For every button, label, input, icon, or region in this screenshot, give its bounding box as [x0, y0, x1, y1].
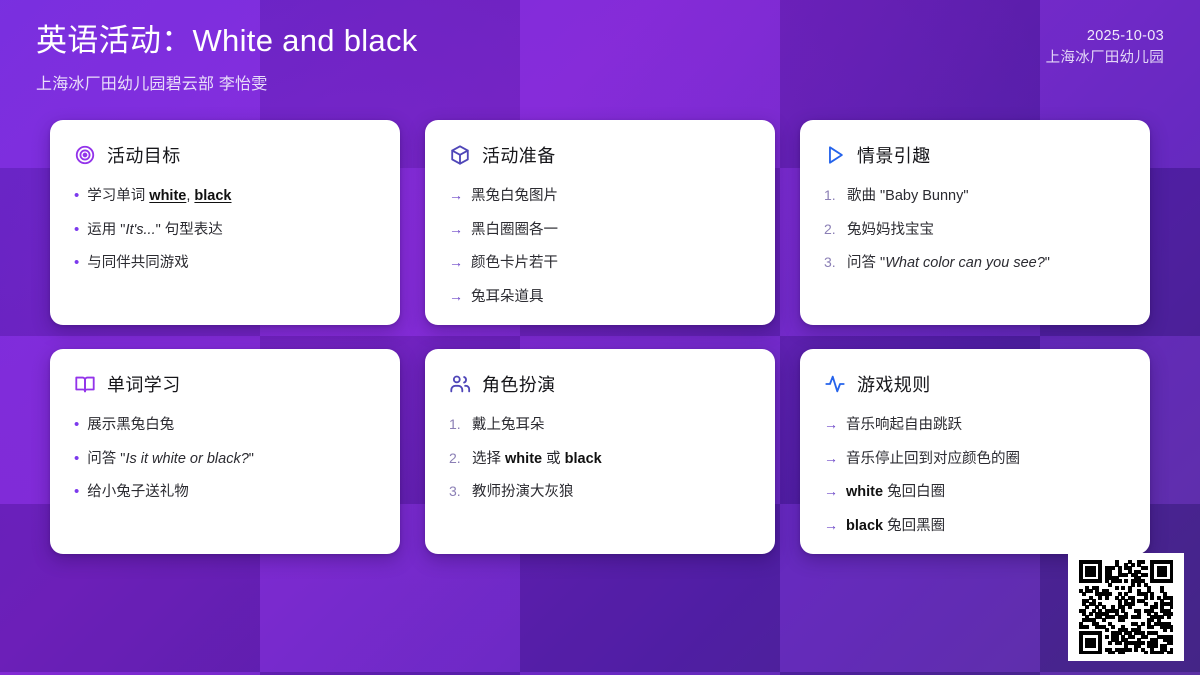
list-marker: → [449, 287, 463, 307]
list-item: •与同伴共同游戏 [74, 253, 376, 274]
activity-pulse-icon [824, 373, 846, 395]
card-title: 单词学习 [107, 371, 181, 397]
list-item-text: 给小兔子送礼物 [87, 482, 189, 503]
list-item-text: 选择 white 或 black [472, 449, 602, 470]
card-list: 1.戴上兔耳朵2.选择 white 或 black3.教师扮演大灰狼 [449, 415, 751, 503]
box-icon [449, 144, 471, 166]
list-marker: → [449, 220, 463, 240]
header-date: 2025-10-03 [1087, 26, 1164, 48]
list-marker: → [449, 186, 463, 206]
card-list: →黑兔白兔图片→黑白圈圈各一→颜色卡片若干→兔耳朵道具 [449, 186, 751, 307]
list-item: 3.教师扮演大灰狼 [449, 482, 751, 503]
list-item-text: 音乐响起自由跳跃 [846, 415, 962, 436]
list-item-text: 运用 "It's..." 句型表达 [87, 220, 223, 241]
list-item-text: 兔耳朵道具 [471, 287, 544, 308]
card-情景引趣: 情景引趣1.歌曲 "Baby Bunny"2.兔妈妈找宝宝3.问答 "What … [800, 120, 1150, 325]
list-item-text: 学习单词 white, black [87, 186, 231, 207]
list-item: →黑白圈圈各一 [449, 220, 751, 241]
list-marker: → [824, 516, 838, 536]
list-marker: 3. [449, 482, 464, 502]
list-marker: → [824, 449, 838, 469]
list-item-text: 问答 "What color can you see?" [847, 253, 1050, 274]
card-活动准备: 活动准备→黑兔白兔图片→黑白圈圈各一→颜色卡片若干→兔耳朵道具 [425, 120, 775, 325]
card-title: 游戏规则 [857, 371, 931, 397]
card-list: •学习单词 white, black•运用 "It's..." 句型表达•与同伴… [74, 186, 376, 274]
list-item-text: 教师扮演大灰狼 [472, 482, 574, 503]
list-marker: → [449, 253, 463, 273]
list-item-text: 展示黑兔白兔 [87, 415, 174, 436]
open-book-icon [74, 373, 96, 395]
list-item: →颜色卡片若干 [449, 253, 751, 274]
list-item-text: 音乐停止回到对应颜色的圈 [846, 449, 1020, 470]
header-organization: 上海冰厂田幼儿园 [1046, 48, 1164, 70]
list-marker: 2. [449, 449, 464, 469]
list-item-text: 与同伴共同游戏 [87, 253, 189, 274]
play-triangle-icon [824, 144, 846, 166]
list-item: •给小兔子送礼物 [74, 482, 376, 503]
card-header: 单词学习 [74, 371, 376, 397]
qr-code-image [1079, 560, 1173, 654]
list-marker: 1. [449, 415, 464, 435]
card-角色扮演: 角色扮演1.戴上兔耳朵2.选择 white 或 black3.教师扮演大灰狼 [425, 349, 775, 554]
card-title: 活动准备 [482, 142, 556, 168]
list-item: 2.选择 white 或 black [449, 449, 751, 470]
list-marker: • [74, 484, 79, 499]
list-item: →音乐响起自由跳跃 [824, 415, 1126, 436]
list-item: •学习单词 white, black [74, 186, 376, 207]
card-header: 角色扮演 [449, 371, 751, 397]
qr-code[interactable] [1068, 553, 1184, 661]
list-item-text: 黑白圈圈各一 [471, 220, 558, 241]
list-marker: • [74, 417, 79, 432]
list-item: →音乐停止回到对应颜色的圈 [824, 449, 1126, 470]
card-单词学习: 单词学习•展示黑兔白兔•问答 "Is it white or black?"•给… [50, 349, 400, 554]
list-item-text: 问答 "Is it white or black?" [87, 449, 254, 470]
card-grid: 活动目标•学习单词 white, black•运用 "It's..." 句型表达… [50, 120, 1150, 554]
list-item: •运用 "It's..." 句型表达 [74, 220, 376, 241]
card-list: 1.歌曲 "Baby Bunny"2.兔妈妈找宝宝3.问答 "What colo… [824, 186, 1126, 274]
target-icon [74, 144, 96, 166]
card-list: →音乐响起自由跳跃→音乐停止回到对应颜色的圈→white 兔回白圈→black … [824, 415, 1126, 536]
list-marker: 3. [824, 253, 839, 273]
list-marker: • [74, 255, 79, 270]
list-item-text: 歌曲 "Baby Bunny" [847, 186, 969, 207]
card-title: 情景引趣 [857, 142, 931, 168]
list-item: →black 兔回黑圈 [824, 516, 1126, 537]
list-item: 3.问答 "What color can you see?" [824, 253, 1126, 274]
card-title: 活动目标 [107, 142, 181, 168]
card-活动目标: 活动目标•学习单词 white, black•运用 "It's..." 句型表达… [50, 120, 400, 325]
card-header: 活动准备 [449, 142, 751, 168]
page-subtitle: 上海冰厂田幼儿园碧云部 李怡雯 [36, 70, 418, 94]
list-item: →黑兔白兔图片 [449, 186, 751, 207]
card-游戏规则: 游戏规则→音乐响起自由跳跃→音乐停止回到对应颜色的圈→white 兔回白圈→bl… [800, 349, 1150, 554]
list-item: •展示黑兔白兔 [74, 415, 376, 436]
list-item: 1.歌曲 "Baby Bunny" [824, 186, 1126, 207]
card-header: 情景引趣 [824, 142, 1126, 168]
list-item: 1.戴上兔耳朵 [449, 415, 751, 436]
list-item-text: 戴上兔耳朵 [472, 415, 545, 436]
list-marker: • [74, 222, 79, 237]
list-item: •问答 "Is it white or black?" [74, 449, 376, 470]
list-item: →white 兔回白圈 [824, 482, 1126, 503]
list-marker: → [824, 482, 838, 502]
slide-header: 英语活动：White and black 上海冰厂田幼儿园碧云部 李怡雯 202… [0, 0, 1200, 112]
page-title: 英语活动：White and black [36, 22, 418, 61]
list-item-text: black 兔回黑圈 [846, 516, 945, 537]
card-title: 角色扮演 [482, 371, 556, 397]
list-marker: • [74, 451, 79, 466]
card-header: 活动目标 [74, 142, 376, 168]
header-meta: 2025-10-03 上海冰厂田幼儿园 [1046, 22, 1164, 70]
list-item: →兔耳朵道具 [449, 287, 751, 308]
list-item-text: 黑兔白兔图片 [471, 186, 558, 207]
list-marker: → [824, 415, 838, 435]
list-marker: 2. [824, 220, 839, 240]
list-marker: 1. [824, 186, 839, 206]
list-marker: • [74, 188, 79, 203]
list-item-text: 颜色卡片若干 [471, 253, 558, 274]
users-icon [449, 373, 471, 395]
list-item-text: white 兔回白圈 [846, 482, 945, 503]
card-list: •展示黑兔白兔•问答 "Is it white or black?"•给小兔子送… [74, 415, 376, 503]
list-item-text: 兔妈妈找宝宝 [847, 220, 934, 241]
title-block: 英语活动：White and black 上海冰厂田幼儿园碧云部 李怡雯 [36, 22, 418, 94]
list-item: 2.兔妈妈找宝宝 [824, 220, 1126, 241]
card-header: 游戏规则 [824, 371, 1126, 397]
